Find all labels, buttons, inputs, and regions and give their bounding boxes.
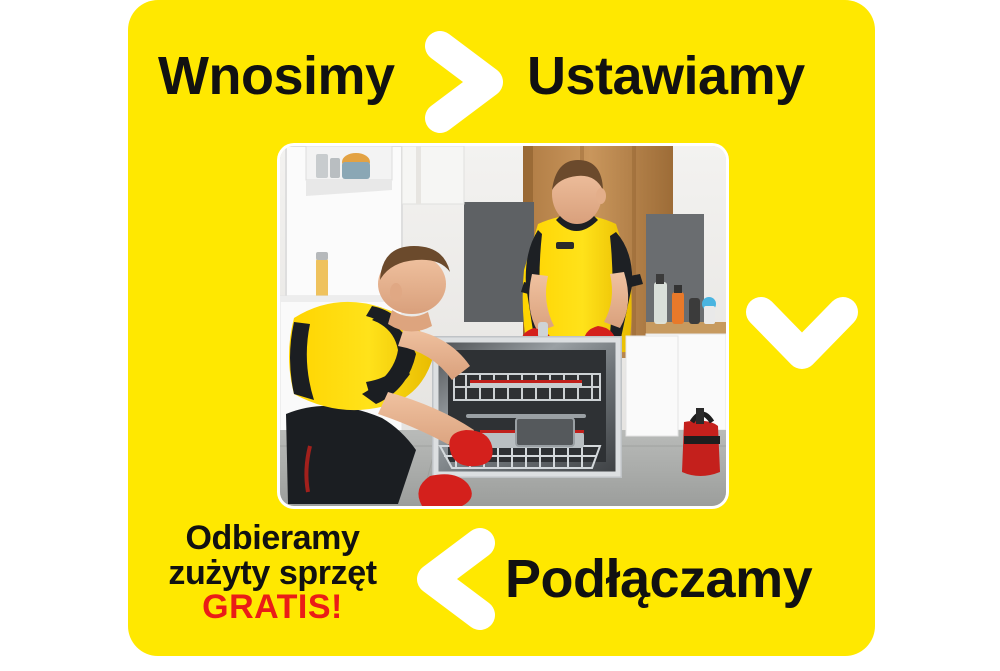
step-label-odbieramy-line1: Odbieramy xyxy=(150,521,395,556)
step-label-podlaczamy: Podłączamy xyxy=(505,548,812,610)
poster-canvas: Wnosimy Ustawiamy xyxy=(0,0,1000,671)
installation-photo-graphic xyxy=(280,146,726,506)
gratis-badge: GRATIS! xyxy=(150,590,395,625)
chevron-down-icon xyxy=(743,292,861,380)
step-label-odbieramy-line2: zużyty sprzęt xyxy=(150,556,395,591)
chevron-right-icon xyxy=(420,28,512,136)
chevron-left-icon xyxy=(408,525,500,633)
installation-photo xyxy=(280,146,726,506)
step-label-wnosimy: Wnosimy xyxy=(158,45,395,107)
step-label-ustawiamy: Ustawiamy xyxy=(527,45,805,107)
step-label-odbieramy-block: Odbieramy zużyty sprzęt GRATIS! xyxy=(150,521,395,625)
